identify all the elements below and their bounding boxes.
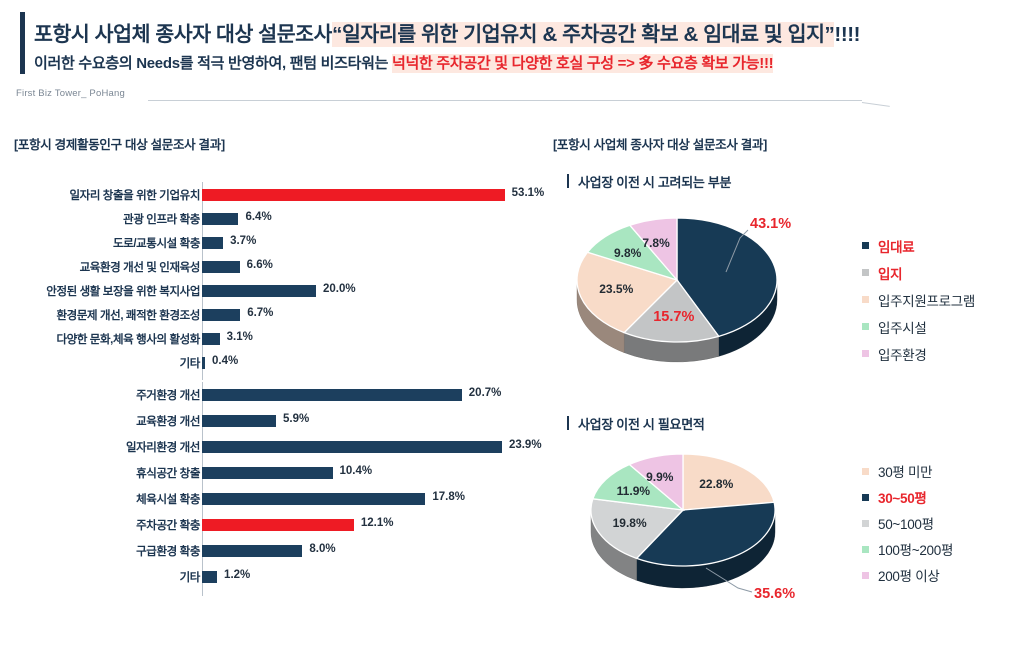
- bar-category-label: 관광 인프라 확충: [123, 211, 200, 227]
- bar-fill: [202, 261, 240, 273]
- headline-exclamation: !!!!: [834, 23, 860, 46]
- bar-row: 주차공간 확충12.1%: [14, 514, 524, 540]
- bar-track: [202, 357, 205, 369]
- legend-swatch-icon: [862, 468, 869, 475]
- bar-track: [202, 519, 354, 531]
- bar-row: 주거환경 개선20.7%: [14, 384, 524, 410]
- legend-label: 임대료: [878, 236, 914, 256]
- legend-relocation-item[interactable]: 입주환경: [862, 340, 1022, 367]
- legend-swatch-icon: [862, 269, 869, 276]
- header-headline: 포항시 사업체 종사자 대상 설문조사“일자리를 위한 기업유치 & 주차공간 …: [34, 17, 860, 47]
- bar-fill-highlighted: [202, 519, 354, 531]
- bar-track: [202, 237, 223, 249]
- bar-track: [202, 441, 502, 453]
- slide-header: 포항시 사업체 종사자 대상 설문조사“일자리를 위한 기업유치 & 주차공간 …: [0, 0, 1024, 86]
- bar-category-label: 도로/교통시설 확충: [113, 235, 200, 251]
- bar-category-label: 일자리환경 개선: [126, 439, 200, 455]
- bar-track: [202, 467, 333, 479]
- bar-row: 교육환경 개선5.9%: [14, 410, 524, 436]
- bar-track: [202, 389, 462, 401]
- subheadline-highlighted-text: 넉넉한 주차공간 및 다양한 호실 구성 => 多 수요층 확보 가능: [392, 54, 759, 73]
- legend-label: 입주환경: [878, 344, 926, 364]
- bar-value-label: 1.2%: [224, 569, 250, 581]
- headline-prefix: 포항시 사업체 종사자 대상 설문조사: [34, 23, 332, 46]
- bar-row: 안정된 생활 보장을 위한 복지사업20.0%: [14, 280, 524, 304]
- bar-category-label: 휴식공간 창출: [136, 465, 200, 481]
- bar-row: 일자리환경 개선23.9%: [14, 436, 524, 462]
- bar-chart-economic-population: 일자리 창출을 위한 기업유치53.1%관광 인프라 확충6.4%도로/교통시설…: [14, 182, 524, 374]
- legend-swatch-icon: [862, 494, 869, 501]
- bar-category-label: 기타: [180, 569, 200, 585]
- bar-fill: [202, 415, 276, 427]
- legend-swatch-icon: [862, 572, 869, 579]
- bar-value-label: 5.9%: [283, 413, 309, 425]
- legend-swatch-icon: [862, 242, 869, 249]
- pie-callout-label: 35.6%: [754, 586, 795, 602]
- legend-label: 입주지원프로그램: [878, 290, 975, 310]
- bar-fill: [202, 467, 333, 479]
- bar-category-label: 안정된 생활 보장을 위한 복지사업: [46, 283, 200, 299]
- bar-track: [202, 333, 220, 345]
- pie-data-label: 23.5%: [599, 282, 633, 296]
- pie-legend-relocation-factors: 임대료입지입주지원프로그램입주시설입주환경: [862, 232, 1022, 367]
- legend-relocation-item[interactable]: 입주지원프로그램: [862, 286, 1022, 313]
- bar-category-label: 기타: [180, 355, 200, 371]
- bar-fill: [202, 493, 425, 505]
- legend-area-item[interactable]: 50~100평: [862, 510, 1022, 536]
- bar-track: [202, 415, 276, 427]
- bar-row: 기타1.2%: [14, 566, 524, 592]
- legend-label: 30평 미만: [878, 461, 932, 481]
- legend-relocation-item[interactable]: 입지: [862, 259, 1022, 286]
- bar-row: 일자리 창출을 위한 기업유치53.1%: [14, 184, 524, 208]
- headline-highlighted-text: 일자리를 위한 기업유치 & 주차공간 확보 & 임대료 및 입지: [342, 22, 825, 47]
- bar-row: 휴식공간 창출10.4%: [14, 462, 524, 488]
- pie-data-label: 9.9%: [646, 470, 673, 484]
- bar-category-label: 주거환경 개선: [136, 387, 200, 403]
- pie-data-label: 9.8%: [614, 246, 641, 260]
- subheadline-prefix: 이러한 수요층의 Needs를 적극 반영하여, 팬텀 비즈타워는: [34, 55, 392, 72]
- legend-label: 30~50평: [878, 487, 927, 507]
- bar-fill: [202, 571, 217, 583]
- bar-row: 교육환경 개선 및 인재육성6.6%: [14, 256, 524, 280]
- bar-category-label: 체육시설 확충: [136, 491, 200, 507]
- brand-strip: First Biz Tower_ PoHang: [0, 88, 1024, 112]
- bar-value-label: 6.4%: [245, 211, 271, 223]
- bar-category-label: 다양한 문화,체육 행사의 활성화: [56, 331, 200, 347]
- bar-track: [202, 309, 240, 321]
- bar-track: [202, 545, 302, 557]
- bar-row: 체육시설 확충17.8%: [14, 488, 524, 514]
- bar-fill: [202, 285, 316, 297]
- right-panel-title: [포항시 사업체 종사자 대상 설문조사 결과]: [553, 138, 803, 154]
- pie-data-label: 19.8%: [613, 516, 647, 530]
- bar-value-label: 0.4%: [212, 355, 238, 367]
- legend-swatch-icon: [862, 520, 869, 527]
- bar-track: [202, 189, 505, 201]
- pie-legend-required-area: 30평 미만30~50평50~100평100평~200평200평 이상: [862, 458, 1022, 588]
- bar-value-label: 3.7%: [230, 235, 256, 247]
- pie-data-label: 11.9%: [617, 484, 650, 498]
- pie-data-label: 7.8%: [642, 236, 669, 250]
- header-subheadline: 이러한 수요층의 Needs를 적극 반영하여, 팬텀 비즈타워는 넉넉한 주차…: [34, 52, 773, 73]
- bar-category-label: 주차공간 확충: [136, 517, 200, 533]
- bar-value-label: 8.0%: [309, 543, 335, 555]
- bar-value-label: 23.9%: [509, 439, 542, 451]
- bar-fill: [202, 237, 223, 249]
- headline-quote-open: “: [332, 22, 342, 47]
- bar-value-label: 6.7%: [247, 307, 273, 319]
- bar-row: 환경문제 개선, 쾌적한 환경조성6.7%: [14, 304, 524, 328]
- legend-area-item[interactable]: 30평 미만: [862, 458, 1022, 484]
- bar-category-label: 구급환경 확충: [136, 543, 200, 559]
- legend-label: 50~100평: [878, 513, 934, 533]
- bar-track: [202, 493, 425, 505]
- pie-callout-label: 43.1%: [750, 216, 791, 232]
- bar-row: 도로/교통시설 확충3.7%: [14, 232, 524, 256]
- legend-swatch-icon: [862, 350, 869, 357]
- section-title-relocation-factors: 사업장 이전 시 고려되는 부분: [578, 172, 731, 191]
- legend-label: 입주시설: [878, 317, 926, 337]
- bar-row: 다양한 문화,체육 행사의 활성화3.1%: [14, 328, 524, 352]
- legend-area-item[interactable]: 100평~200평: [862, 536, 1022, 562]
- brand-divider-tail: [862, 102, 890, 107]
- bar-category-label: 교육환경 개선: [136, 413, 200, 429]
- bar-category-label: 교육환경 개선 및 인재육성: [80, 259, 200, 275]
- brand-name: First Biz Tower_ PoHang: [16, 88, 125, 99]
- legend-swatch-icon: [862, 546, 869, 553]
- bar-value-label: 17.8%: [432, 491, 465, 503]
- bar-fill-highlighted: [202, 189, 505, 201]
- bar-value-label: 6.6%: [247, 259, 273, 271]
- bar-value-label: 20.7%: [469, 387, 502, 399]
- headline-quote-close: ”: [825, 22, 835, 47]
- bar-track: [202, 285, 316, 297]
- bar-row: 기타0.4%: [14, 352, 524, 376]
- bar-row: 관광 인프라 확충6.4%: [14, 208, 524, 232]
- legend-label: 입지: [878, 263, 902, 283]
- pie-data-label: 15.7%: [653, 309, 694, 325]
- bar-fill: [202, 357, 205, 369]
- bar-track: [202, 213, 238, 225]
- bar-value-label: 10.4%: [340, 465, 373, 477]
- bar-fill: [202, 309, 240, 321]
- pie-chart-required-area: 22.8%19.8%11.9%9.9%35.6%: [588, 448, 828, 598]
- bar-track: [202, 571, 217, 583]
- legend-label: 200평 이상: [878, 565, 939, 585]
- brand-divider: [148, 100, 862, 101]
- bar-fill: [202, 441, 502, 453]
- bar-fill: [202, 545, 302, 557]
- legend-relocation-item[interactable]: 입주시설: [862, 313, 1022, 340]
- section-title-required-area: 사업장 이전 시 필요면적: [578, 414, 705, 433]
- legend-relocation-item[interactable]: 임대료: [862, 232, 1022, 259]
- legend-swatch-icon: [862, 296, 869, 303]
- bar-chart-living-environment: 주거환경 개선20.7%교육환경 개선5.9%일자리환경 개선23.9%휴식공간…: [14, 382, 524, 592]
- legend-label: 100평~200평: [878, 539, 953, 559]
- bar-track: [202, 261, 240, 273]
- bar-value-label: 53.1%: [512, 187, 545, 199]
- legend-area-item[interactable]: 200평 이상: [862, 562, 1022, 588]
- legend-swatch-icon: [862, 323, 869, 330]
- bar-category-label: 일자리 창출을 위한 기업유치: [69, 187, 200, 203]
- bar-value-label: 3.1%: [227, 331, 253, 343]
- bar-row: 구급환경 확충8.0%: [14, 540, 524, 566]
- header-accent-bar: [20, 12, 25, 74]
- bar-value-label: 20.0%: [323, 283, 356, 295]
- subheadline-exclamation: !!!: [759, 54, 773, 73]
- bar-fill: [202, 333, 220, 345]
- bar-value-label: 12.1%: [361, 517, 394, 529]
- legend-area-item[interactable]: 30~50평: [862, 484, 1022, 510]
- slide-canvas: 포항시 사업체 종사자 대상 설문조사“일자리를 위한 기업유치 & 주차공간 …: [0, 0, 1024, 657]
- left-panel-title: [포항시 경제활동인구 대상 설문조사 결과]: [14, 138, 244, 154]
- pie-chart-relocation-factors: 15.7%23.5%9.8%7.8%43.1%: [572, 208, 832, 368]
- bar-category-label: 환경문제 개선, 쾌적한 환경조성: [56, 307, 200, 323]
- bar-fill: [202, 213, 238, 225]
- pie-data-label: 22.8%: [699, 477, 733, 491]
- bar-fill: [202, 389, 462, 401]
